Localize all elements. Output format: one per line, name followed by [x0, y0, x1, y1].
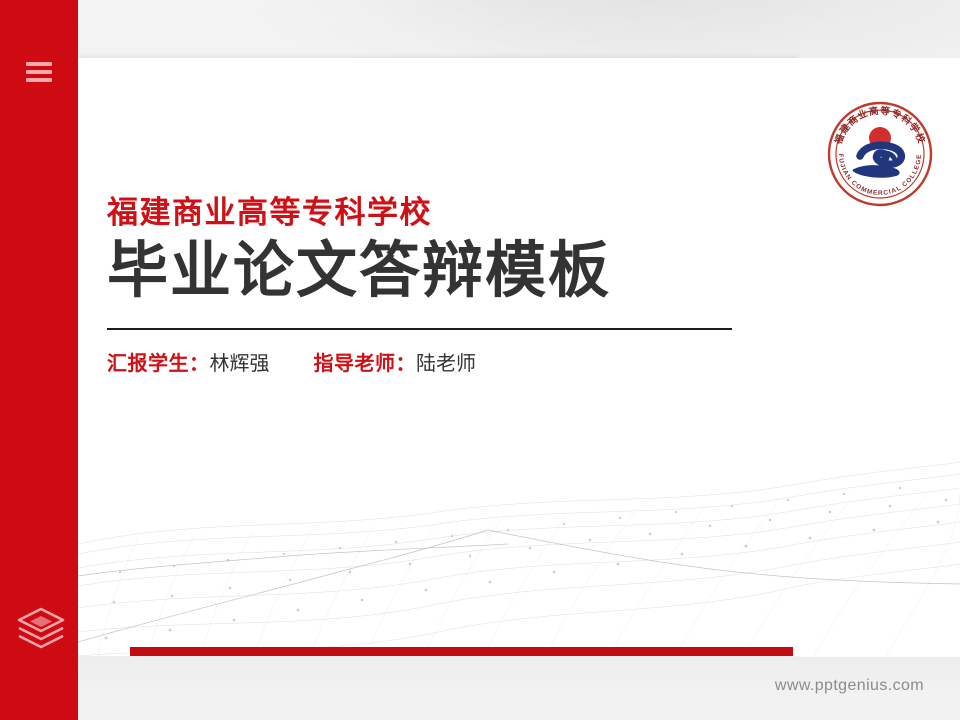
school-name: 福建商业高等专科学校	[107, 196, 747, 230]
hamburger-bar	[26, 78, 52, 82]
wireframe-mesh-graphic	[78, 426, 960, 656]
presentation-slide: 福建商业高等专科学校 FUJIAN COMMERCIAL COLLEGE 福建商…	[0, 0, 960, 720]
hamburger-bar	[26, 70, 52, 74]
student-label: 汇报学生：	[107, 353, 210, 375]
university-seal-logo: 福建商业高等专科学校 FUJIAN COMMERCIAL COLLEGE	[824, 98, 936, 210]
hamburger-menu-icon[interactable]	[26, 62, 52, 82]
page-title: 毕业论文答辩模板	[107, 236, 747, 304]
hamburger-bar	[26, 62, 52, 66]
advisor-name: 陆老师	[416, 353, 476, 375]
red-accent-bar	[130, 647, 793, 656]
title-block: 福建商业高等专科学校 毕业论文答辩模板 汇报学生：林辉强指导老师：陆老师	[107, 196, 747, 376]
title-divider	[107, 328, 732, 330]
slide-footer: www.pptgenius.com	[78, 657, 960, 720]
advisor-label: 指导老师：	[314, 353, 417, 375]
layers-stack-icon[interactable]	[16, 606, 66, 652]
byline: 汇报学生：林辉强指导老师：陆老师	[107, 352, 747, 376]
footer-url: www.pptgenius.com	[775, 677, 924, 695]
student-name: 林辉强	[210, 353, 270, 375]
left-red-rail	[0, 0, 78, 720]
